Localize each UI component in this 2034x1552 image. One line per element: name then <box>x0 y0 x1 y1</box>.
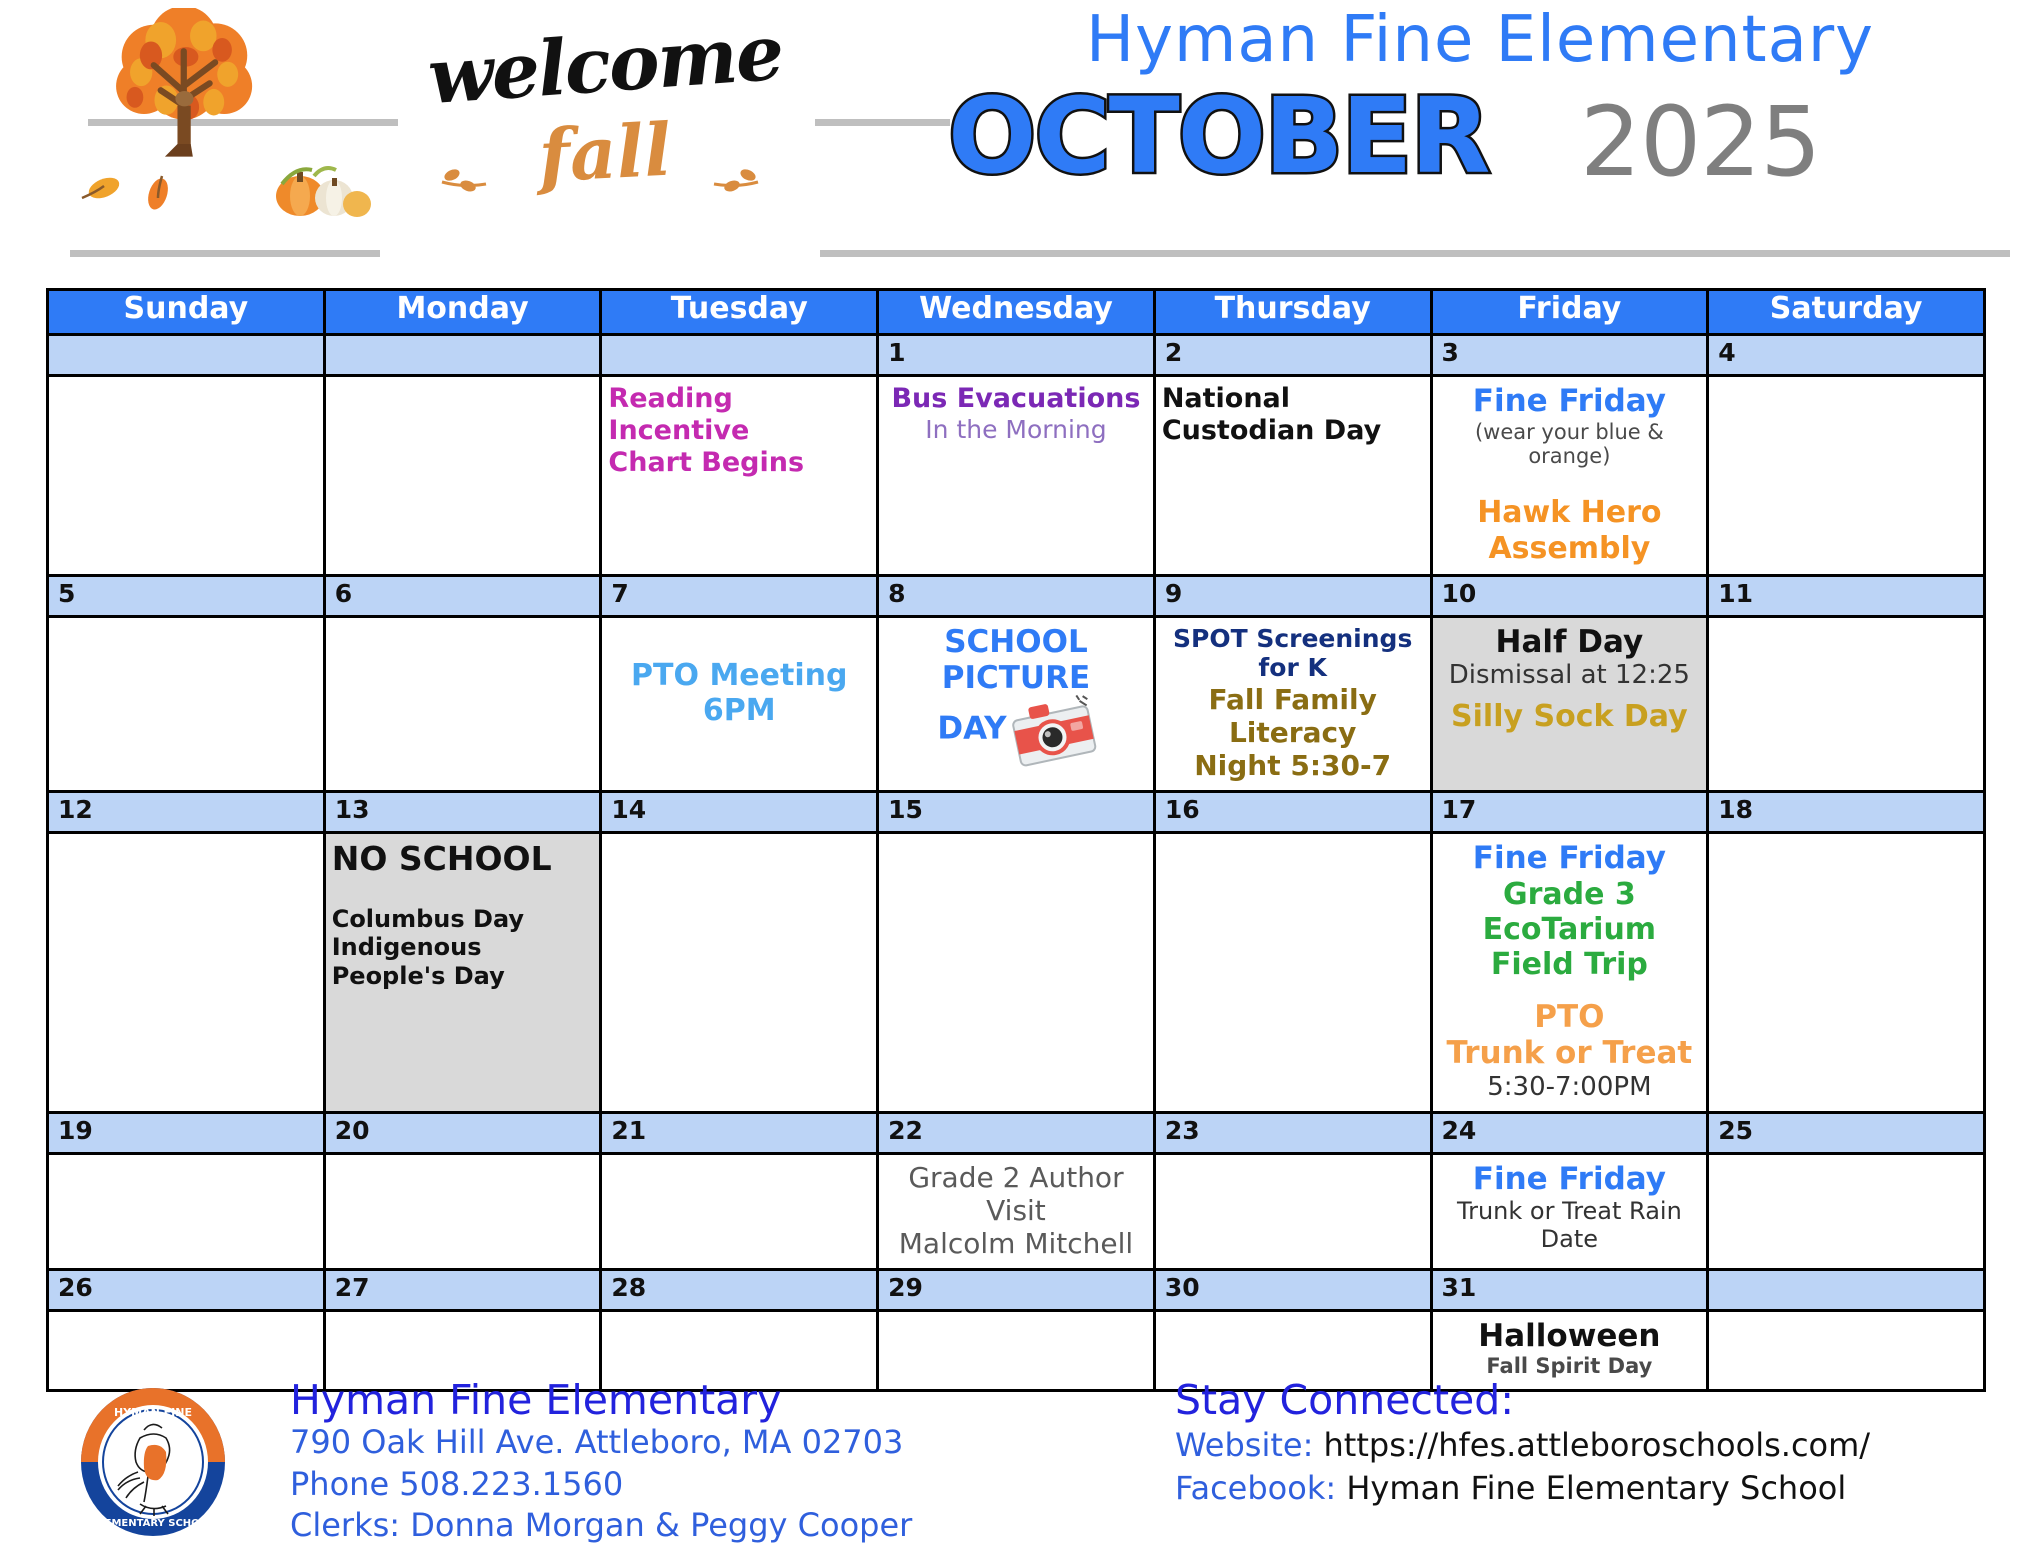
day-cell-10[interactable]: Half DayDismissal at 12:25Silly Sock Day <box>1431 616 1708 791</box>
day-cell-empty[interactable] <box>324 376 601 576</box>
weekday-header-saturday: Saturday <box>1708 290 1985 335</box>
day-cell-25[interactable] <box>1708 1153 1985 1269</box>
event-text: Trunk or Treat <box>1439 1035 1701 1072</box>
footer-school-name: Hyman Fine Elementary <box>290 1378 940 1422</box>
day-cell-23[interactable] <box>1154 1153 1431 1269</box>
event-text: PTO <box>1439 999 1701 1036</box>
day-number-empty <box>324 335 601 376</box>
week-3-number-row: 12131415161718 <box>48 791 1985 832</box>
stay-connected-title: Stay Connected: <box>1175 1378 2015 1424</box>
camera-icon <box>1005 689 1101 771</box>
weekday-header-wednesday: Wednesday <box>878 290 1155 335</box>
event-text: Silly Sock Day <box>1439 699 1701 734</box>
day-number-2: 2 <box>1154 335 1431 376</box>
weekday-header-tuesday: Tuesday <box>601 290 878 335</box>
day-number-13: 13 <box>324 791 601 832</box>
event-text: Trunk or Treat Rain Date <box>1439 1197 1701 1254</box>
page-footer: HYMAN FINE ELEMENTARY SCHOOL Hyman Fine … <box>0 1378 2034 1552</box>
day-number-empty <box>48 335 325 376</box>
day-cell-18[interactable] <box>1708 832 1985 1112</box>
day-cell-3[interactable]: Fine Friday(wear your blue & orange)Hawk… <box>1431 376 1708 576</box>
event-text: Indigenous People's Day <box>332 933 594 990</box>
day-number-14: 14 <box>601 791 878 832</box>
day-number-22: 22 <box>878 1112 1155 1153</box>
day-number-1: 1 <box>878 335 1155 376</box>
facebook-row: Facebook: Hyman Fine Elementary School <box>1175 1467 2015 1510</box>
day-cell-15[interactable] <box>878 832 1155 1112</box>
school-name-title: Hyman Fine Elementary <box>940 8 2020 72</box>
pumpkins-icon <box>262 150 382 218</box>
event-text: Fine Friday <box>1439 1161 1701 1198</box>
event-spacer <box>608 650 870 658</box>
event-text: DAY <box>885 697 1147 763</box>
header-divider-left-lower <box>70 250 380 257</box>
day-number-18: 18 <box>1708 791 1985 832</box>
day-number-6: 6 <box>324 575 601 616</box>
day-number-5: 5 <box>48 575 325 616</box>
day-cell-21[interactable] <box>601 1153 878 1269</box>
event-text: SCHOOL PICTURE <box>885 624 1147 697</box>
day-number-19: 19 <box>48 1112 325 1153</box>
day-number-15: 15 <box>878 791 1155 832</box>
day-number-11: 11 <box>1708 575 1985 616</box>
event-spacer <box>332 879 594 905</box>
event-text: Half Day <box>1439 624 1701 661</box>
event-spacer <box>1439 983 1701 999</box>
event-text: Night 5:30-7 <box>1162 749 1424 782</box>
weekday-header-row: SundayMondayTuesdayWednesdayThursdayFrid… <box>48 290 1985 335</box>
event-text: PTO Meeting 6PM <box>608 658 870 729</box>
event-spacer <box>1439 691 1701 699</box>
day-cell-empty[interactable] <box>48 376 325 576</box>
event-text: Malcolm Mitchell <box>885 1227 1147 1260</box>
svg-text:ELEMENTARY SCHOOL: ELEMENTARY SCHOOL <box>91 1518 215 1529</box>
event-text: Reading Incentive <box>608 383 870 447</box>
weekday-header-thursday: Thursday <box>1154 290 1431 335</box>
day-cell-16[interactable] <box>1154 832 1431 1112</box>
event-text: SPOT Screenings for K <box>1162 624 1424 683</box>
day-number-12: 12 <box>48 791 325 832</box>
weekday-header-monday: Monday <box>324 290 601 335</box>
day-number-8: 8 <box>878 575 1155 616</box>
week-1-content-row: Reading IncentiveChart BeginsBus Evacuat… <box>48 376 1985 576</box>
event-text: Fall Family Literacy <box>1162 683 1424 749</box>
day-number-21: 21 <box>601 1112 878 1153</box>
month-label: OCTOBER <box>948 82 1488 191</box>
day-number-17: 17 <box>1431 791 1708 832</box>
leaf-branch-right-icon <box>710 166 762 192</box>
event-label: DAY <box>937 711 1006 747</box>
day-cell-24[interactable]: Fine FridayTrunk or Treat Rain Date <box>1431 1153 1708 1269</box>
day-number-24: 24 <box>1431 1112 1708 1153</box>
facebook-value[interactable]: Hyman Fine Elementary School <box>1346 1469 1846 1507</box>
week-2-number-row: 567891011 <box>48 575 1985 616</box>
calendar-grid: SundayMondayTuesdayWednesdayThursdayFrid… <box>46 288 1986 1392</box>
event-text: Grade 3 EcoTarium <box>1439 877 1701 948</box>
page-header: welcome fall Hyman Fine Elementary OCTOB… <box>0 0 2034 218</box>
day-number-9: 9 <box>1154 575 1431 616</box>
week-2-content-row: PTO Meeting 6PMSCHOOL PICTUREDAYSPOT Scr… <box>48 616 1985 791</box>
event-text: Halloween <box>1439 1318 1701 1355</box>
event-spacer <box>1439 469 1701 495</box>
day-cell-14[interactable] <box>601 832 878 1112</box>
event-text: Chart Begins <box>608 447 870 479</box>
stay-connected-block: Stay Connected: Website: https://hfes.at… <box>1175 1378 2015 1510</box>
day-number-20: 20 <box>324 1112 601 1153</box>
svg-text:HYMAN FINE: HYMAN FINE <box>114 1406 192 1419</box>
event-text: (wear your blue & orange) <box>1439 420 1701 470</box>
weekday-header-sunday: Sunday <box>48 290 325 335</box>
day-number-25: 25 <box>1708 1112 1985 1153</box>
day-number-16: 16 <box>1154 791 1431 832</box>
day-number-30: 30 <box>1154 1269 1431 1310</box>
event-spacer <box>608 624 870 650</box>
day-number-27: 27 <box>324 1269 601 1310</box>
event-text: Fine Friday <box>1439 383 1701 420</box>
day-cell-22[interactable]: Grade 2 Author VisitMalcolm Mitchell <box>878 1153 1155 1269</box>
event-text: 5:30-7:00PM <box>1439 1072 1701 1103</box>
website-label: Website: <box>1175 1426 1313 1464</box>
event-text: Assembly <box>1439 531 1701 566</box>
weekday-header-friday: Friday <box>1431 290 1708 335</box>
event-text: In the Morning <box>885 415 1147 445</box>
day-cell-2[interactable]: NationalCustodian Day <box>1154 376 1431 576</box>
day-cell-17[interactable]: Fine FridayGrade 3 EcoTariumField TripPT… <box>1431 832 1708 1112</box>
event-text: Fine Friday <box>1439 840 1701 877</box>
event-text: Columbus Day <box>332 905 594 933</box>
leaf-branch-left-icon <box>438 166 490 192</box>
hyman-fine-elementary-seal-icon: HYMAN FINE ELEMENTARY SCHOOL <box>78 1386 228 1538</box>
school-contact-block: Hyman Fine Elementary 790 Oak Hill Ave. … <box>290 1378 940 1547</box>
day-number-31: 31 <box>1431 1269 1708 1310</box>
month-year-title: OCTOBER 2025 <box>930 82 2020 202</box>
event-text: Grade 2 Author Visit <box>885 1161 1147 1227</box>
day-cell-13[interactable]: NO SCHOOLColumbus DayIndigenous People's… <box>324 832 601 1112</box>
day-cell-20[interactable] <box>324 1153 601 1269</box>
event-text: Hawk Hero <box>1439 495 1701 530</box>
year-label: 2025 <box>1580 92 1820 193</box>
week-3-content-row: NO SCHOOLColumbus DayIndigenous People's… <box>48 832 1985 1112</box>
event-text: Custodian Day <box>1162 415 1424 447</box>
footer-address: 790 Oak Hill Ave. Attleboro, MA 02703 <box>290 1422 940 1464</box>
day-cell-12[interactable] <box>48 832 325 1112</box>
event-text: Dismissal at 12:25 <box>1439 660 1701 691</box>
day-cell-empty[interactable]: Reading IncentiveChart Begins <box>601 376 878 576</box>
week-4-number-row: 19202122232425 <box>48 1112 1985 1153</box>
event-text: Field Trip <box>1439 947 1701 982</box>
week-1-number-row: 1234 <box>48 335 1985 376</box>
day-number-28: 28 <box>601 1269 878 1310</box>
day-number-4: 4 <box>1708 335 1985 376</box>
day-cell-6[interactable] <box>324 616 601 791</box>
day-cell-7[interactable]: PTO Meeting 6PM <box>601 616 878 791</box>
event-text: Bus Evacuations <box>885 383 1147 415</box>
day-number-29: 29 <box>878 1269 1155 1310</box>
day-number-10: 10 <box>1431 575 1708 616</box>
day-number-23: 23 <box>1154 1112 1431 1153</box>
facebook-label: Facebook: <box>1175 1469 1336 1507</box>
day-number-empty <box>601 335 878 376</box>
header-divider-right-lower <box>820 250 2010 257</box>
day-cell-11[interactable] <box>1708 616 1985 791</box>
day-number-empty <box>1708 1269 1985 1310</box>
day-cell-5[interactable] <box>48 616 325 791</box>
day-cell-19[interactable] <box>48 1153 325 1269</box>
event-text: NO SCHOOL <box>332 840 594 879</box>
day-number-7: 7 <box>601 575 878 616</box>
day-cell-8[interactable]: SCHOOL PICTUREDAY <box>878 616 1155 791</box>
footer-clerks: Clerks: Donna Morgan & Peggy Cooper <box>290 1505 940 1547</box>
day-cell-9[interactable]: SPOT Screenings for KFall Family Literac… <box>1154 616 1431 791</box>
website-link[interactable]: https://hfes.attleboroschools.com/ <box>1324 1426 1871 1464</box>
website-row: Website: https://hfes.attleboroschools.c… <box>1175 1424 2015 1467</box>
footer-phone: Phone 508.223.1560 <box>290 1464 940 1506</box>
week-4-content-row: Grade 2 Author VisitMalcolm MitchellFine… <box>48 1153 1985 1269</box>
day-cell-1[interactable]: Bus EvacuationsIn the Morning <box>878 376 1155 576</box>
week-5-number-row: 262728293031 <box>48 1269 1985 1310</box>
day-number-26: 26 <box>48 1269 325 1310</box>
event-text: National <box>1162 383 1424 415</box>
day-cell-4[interactable] <box>1708 376 1985 576</box>
welcome-fall-graphic: welcome fall <box>410 14 800 204</box>
day-number-3: 3 <box>1431 335 1708 376</box>
